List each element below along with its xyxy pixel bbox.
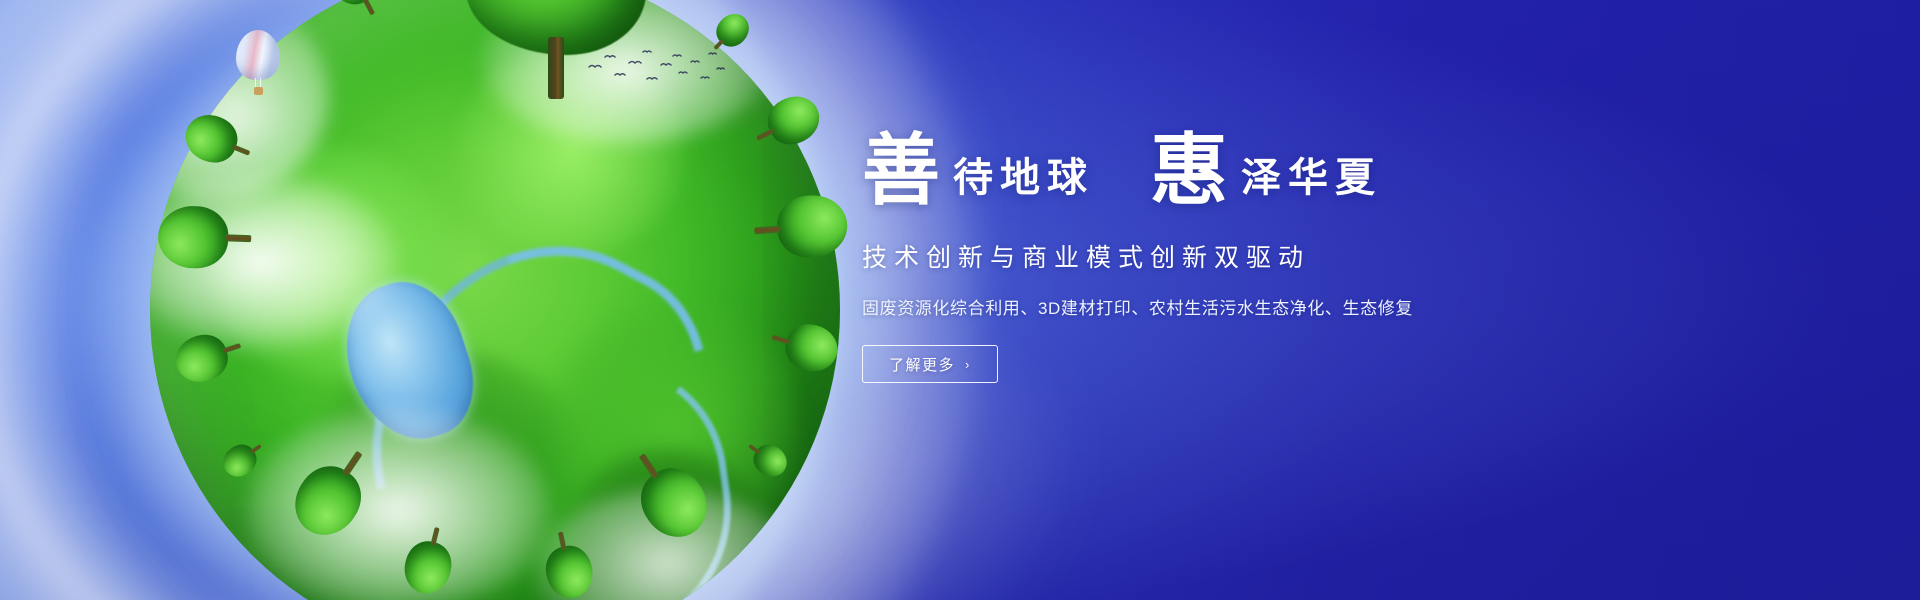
rim-tree-icon — [752, 193, 849, 261]
headline-phrase-one-rest: 待地球 — [953, 158, 1094, 198]
hero-description: 固废资源化综合利用、3D建材打印、农村生活污水生态净化、生态修复 — [862, 294, 1562, 319]
rim-tree-icon — [157, 205, 252, 270]
learn-more-label: 了解更多 — [889, 354, 955, 375]
headline-phrase-two-lead: 惠 — [1150, 132, 1229, 210]
chevron-right-icon: › — [965, 357, 971, 372]
hot-air-balloon-icon — [236, 30, 280, 100]
headline-phrase-one-lead: 善 — [862, 132, 941, 210]
hero-banner: 善 待地球 惠 泽华夏 技术创新与商业模式创新双驱动 固废资源化综合利用、3D建… — [0, 0, 1920, 600]
hero-subtitle: 技术创新与商业模式创新双驱动 — [862, 238, 1562, 274]
learn-more-button[interactable]: 了解更多 › — [862, 345, 998, 383]
bird-flock-icon — [585, 45, 730, 95]
hero-copy-block: 善 待地球 惠 泽华夏 技术创新与商业模式创新双驱动 固废资源化综合利用、3D建… — [862, 132, 1562, 383]
page-title: 善 待地球 惠 泽华夏 — [862, 132, 1562, 210]
headline-phrase-two-rest: 泽华夏 — [1241, 158, 1382, 198]
